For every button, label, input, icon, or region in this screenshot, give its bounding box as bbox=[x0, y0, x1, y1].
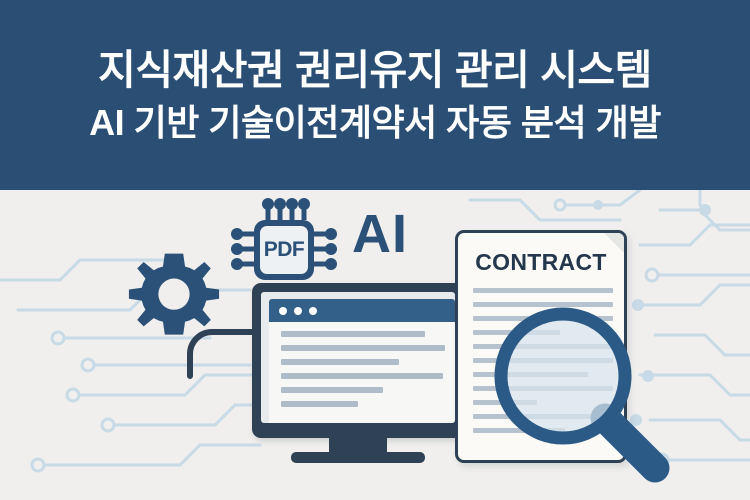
magnifier-icon bbox=[487, 300, 677, 490]
gear-icon bbox=[128, 250, 220, 342]
page-title-line-2: AI 기반 기술이전계약서 자동 분석 개발 bbox=[89, 105, 661, 141]
document-text-line bbox=[473, 288, 613, 293]
screen-text-line bbox=[281, 401, 358, 407]
monitor-screen bbox=[261, 292, 455, 423]
page-title-line-1: 지식재산권 권리유지 관리 시스템 bbox=[98, 50, 652, 91]
screen-text-line bbox=[281, 345, 445, 351]
illustration-stage: PDF AI bbox=[0, 190, 750, 500]
browser-content-lines bbox=[269, 322, 455, 423]
monitor-bezel bbox=[252, 283, 464, 438]
window-dot-icon bbox=[294, 307, 302, 315]
browser-titlebar bbox=[269, 299, 455, 322]
ai-label: AI bbox=[352, 207, 408, 261]
monitor-base bbox=[291, 452, 425, 463]
banner-root: 지식재산권 권리유지 관리 시스템 AI 기반 기술이전계약서 자동 분석 개발 bbox=[0, 0, 750, 500]
monitor bbox=[252, 283, 464, 463]
chip-label: PDF bbox=[254, 220, 314, 280]
header-band: 지식재산권 권리유지 관리 시스템 AI 기반 기술이전계약서 자동 분석 개발 bbox=[0, 0, 750, 190]
screen-text-line bbox=[281, 359, 399, 365]
window-dot-icon bbox=[309, 307, 317, 315]
window-dot-icon bbox=[279, 307, 287, 315]
screen-text-line bbox=[281, 373, 443, 379]
screen-text-line bbox=[281, 331, 425, 337]
screen-text-line bbox=[281, 387, 383, 393]
document-title: CONTRACT bbox=[458, 249, 624, 276]
chip-pins-top bbox=[268, 206, 304, 220]
pdf-chip-icon: PDF bbox=[228, 198, 340, 290]
magnifier-handle bbox=[605, 418, 655, 468]
